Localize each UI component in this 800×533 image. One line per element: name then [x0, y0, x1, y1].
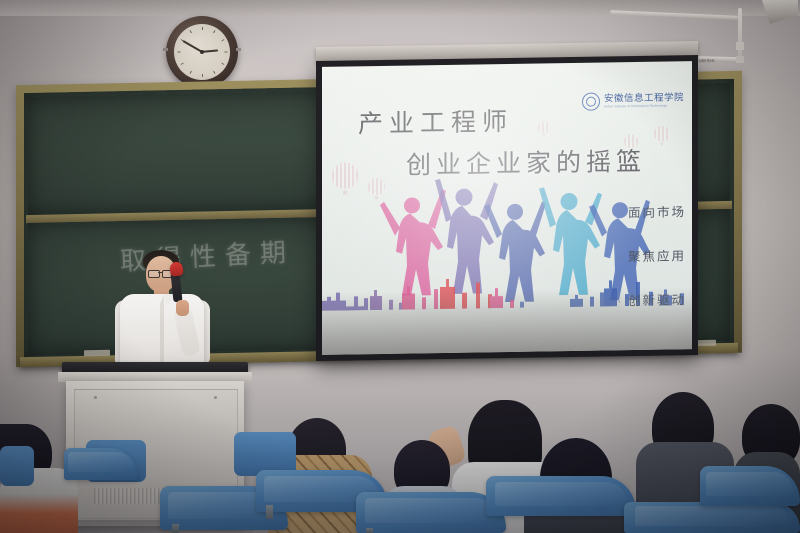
desk-right [700, 466, 800, 506]
university-logo: 安徽信息工程学院 Anhui Institute of Information … [582, 91, 684, 111]
bullet-marker-icon: · [618, 253, 623, 264]
lecture-hall-photo: 取得性备期 MITSUBISHI [0, 0, 800, 533]
clock-tick [225, 52, 228, 53]
presenter-shirt-placket [160, 296, 164, 368]
bullet-text-0: 面向市场 [628, 204, 686, 220]
clock-center-pin [200, 50, 204, 54]
eyeglasses-bridge [158, 272, 162, 273]
slide-title-line-1: 产业工程师 [358, 102, 513, 140]
clock-mount-left [163, 48, 168, 51]
projector-screen: 产业工程师 创业企业家的摇篮 ·面向市场 ·聚焦应用 ·创新驱动 安徽信息工程学… [322, 61, 692, 355]
slide-bullet-1: ·聚焦应用 [618, 245, 686, 265]
clock-tick [178, 52, 181, 53]
clock-tick [221, 63, 224, 65]
bullet-marker-icon: · [618, 209, 623, 220]
desk-leg-3 [366, 528, 373, 533]
chair-edge-left [0, 446, 34, 486]
desk-right-front [624, 502, 800, 533]
clock-tick [181, 63, 184, 65]
hot-air-balloon-4 [654, 125, 670, 146]
desk-center-front [356, 492, 506, 533]
conduit-junction-box-2 [736, 56, 744, 63]
desk-leg-2 [266, 505, 273, 519]
university-logo-text: 安徽信息工程学院 Anhui Institute of Information … [604, 93, 684, 108]
clock-tick [190, 30, 192, 33]
clock-tick [202, 74, 203, 77]
clock-tick [213, 30, 215, 33]
bullet-text-1: 聚焦应用 [628, 248, 686, 264]
university-seal-icon [582, 93, 600, 111]
chalk-eraser-1 [84, 350, 110, 357]
clock-mount-right [236, 48, 241, 51]
conduit-junction-box [736, 42, 744, 50]
clock-tick [190, 71, 192, 74]
screen-bottom-shadow [322, 287, 692, 355]
slide-title-line-2: 创业企业家的摇篮 [406, 142, 646, 182]
desk-center [486, 476, 636, 516]
presenter-hand [176, 300, 189, 316]
clock-tick [202, 27, 203, 30]
podium-screw-left [94, 396, 97, 399]
university-name-en: Anhui Institute of Information Technolog… [604, 104, 684, 108]
microphone-icon [169, 261, 183, 276]
university-name-cn: 安徽信息工程学院 [604, 93, 684, 104]
hot-air-balloon-1 [332, 162, 358, 196]
slide-bullet-0: ·面向市场 [618, 201, 686, 221]
podium-screw-right [214, 396, 217, 399]
desk-far-left [64, 448, 138, 480]
clock-tick [213, 71, 215, 74]
hot-air-balloon-5 [538, 121, 550, 137]
clock-tick [221, 39, 224, 41]
desk-leg-1 [172, 524, 179, 533]
conduit-pipe-vertical [738, 8, 742, 60]
